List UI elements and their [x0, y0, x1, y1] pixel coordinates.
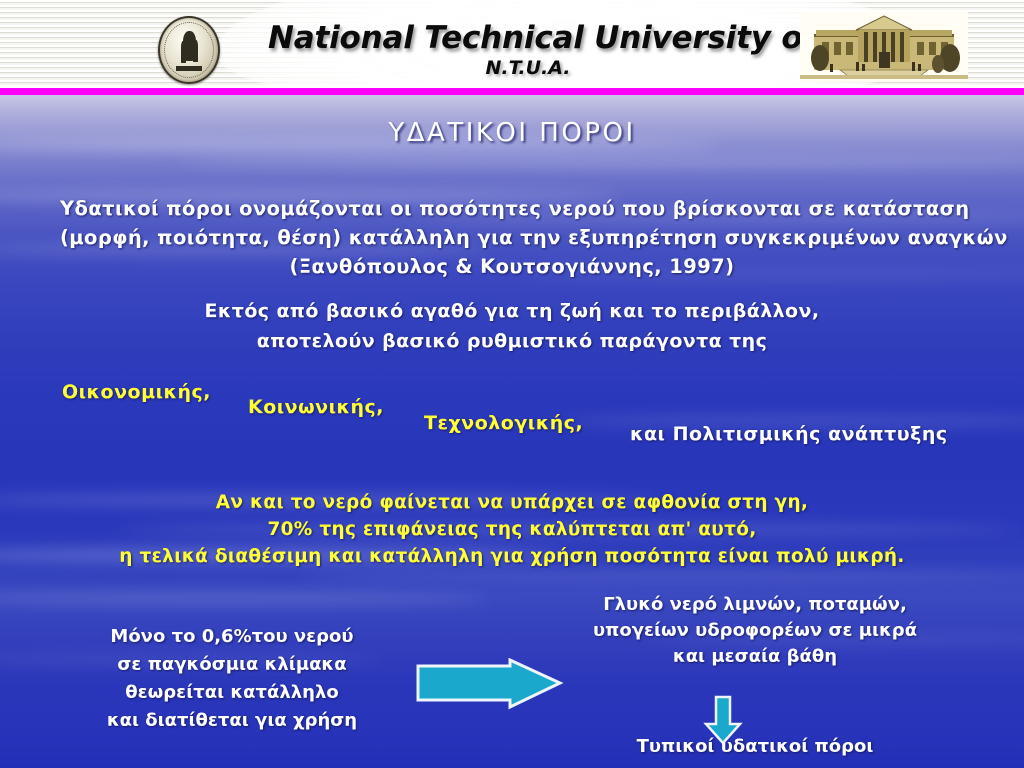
abundance-line: 70% της επιφάνειας της καλύπτεται απ' αυ… [60, 516, 964, 543]
usable-share-line: Μόνο το 0,6%του νερού [72, 623, 392, 651]
usable-share-block: Μόνο το 0,6%του νερού σε παγκόσμια κλίμα… [72, 623, 392, 735]
presentation-slide: National Technical University of Athens … [0, 0, 1024, 768]
water-streak [300, 571, 1024, 581]
water-streak [180, 157, 1024, 166]
development-axis-economic: Οικονομικής, [62, 381, 211, 403]
abundance-line: Αν και το νερό φαίνεται να υπάρχει σε αφ… [60, 489, 964, 516]
role-paragraph: Εκτός από βασικό αγαθό για τη ζωή και το… [150, 296, 874, 356]
freshwater-sources-line: υπογείων υδροφορέων σε μικρά [545, 618, 965, 644]
water-streak [0, 593, 490, 605]
freshwater-sources-line: και μεσαία βάθη [545, 644, 965, 670]
development-axis-technological: Τεχνολογικής, [424, 412, 583, 434]
conclusion-label: Τυπικοί υδατικοί πόροι [545, 736, 965, 757]
magenta-divider [0, 88, 1024, 95]
role-line: αποτελούν βασικό ρυθμιστικό παράγοντα τη… [150, 326, 874, 356]
ntua-building-engraving-icon [800, 12, 968, 82]
page-title: ΥΔΑΤΙΚΟΙ ΠΟΡΟΙ [0, 118, 1024, 148]
definition-paragraph: Υδατικοί πόροι ονομάζονται οι ποσότητες … [60, 194, 964, 281]
freshwater-sources-line: Γλυκό νερό λιμνών, ποταμών, [545, 592, 965, 618]
usable-share-line: θεωρείται κατάλληλο [72, 679, 392, 707]
abundance-paragraph: Αν και το νερό φαίνεται να υπάρχει σε αφ… [60, 489, 964, 570]
arrow-right-icon [414, 658, 564, 712]
seal-figure-shape [183, 31, 196, 61]
development-axis-cultural: και Πολιτισμικής ανάπτυξης [630, 423, 948, 445]
development-axis-social: Κοινωνικής, [248, 396, 384, 418]
definition-line: Υδατικοί πόροι ονομάζονται οι ποσότητες … [60, 194, 964, 223]
university-wordmark: National Technical University of Athens [268, 20, 788, 56]
freshwater-sources-block: Γλυκό νερό λιμνών, ποταμών, υπογείων υδρ… [545, 592, 965, 670]
slide-header: National Technical University of Athens … [0, 0, 1024, 88]
ntua-seal-icon [158, 16, 220, 84]
usable-share-line: και διατίθεται για χρήση [72, 707, 392, 735]
university-acronym: N.T.U.A. [268, 57, 788, 79]
definition-citation: (Ξανθόπουλος & Κουτσογιάννης, 1997) [60, 252, 964, 281]
definition-line: (μορφή, ποιότητα, θέση) κατάλληλη για τη… [60, 223, 964, 252]
seal-base-shape [176, 66, 202, 71]
usable-share-line: σε παγκόσμια κλίμακα [72, 651, 392, 679]
abundance-line: η τελικά διαθέσιμη και κατάλληλη για χρή… [60, 543, 964, 570]
role-line: Εκτός από βασικό αγαθό για τη ζωή και το… [150, 296, 874, 326]
